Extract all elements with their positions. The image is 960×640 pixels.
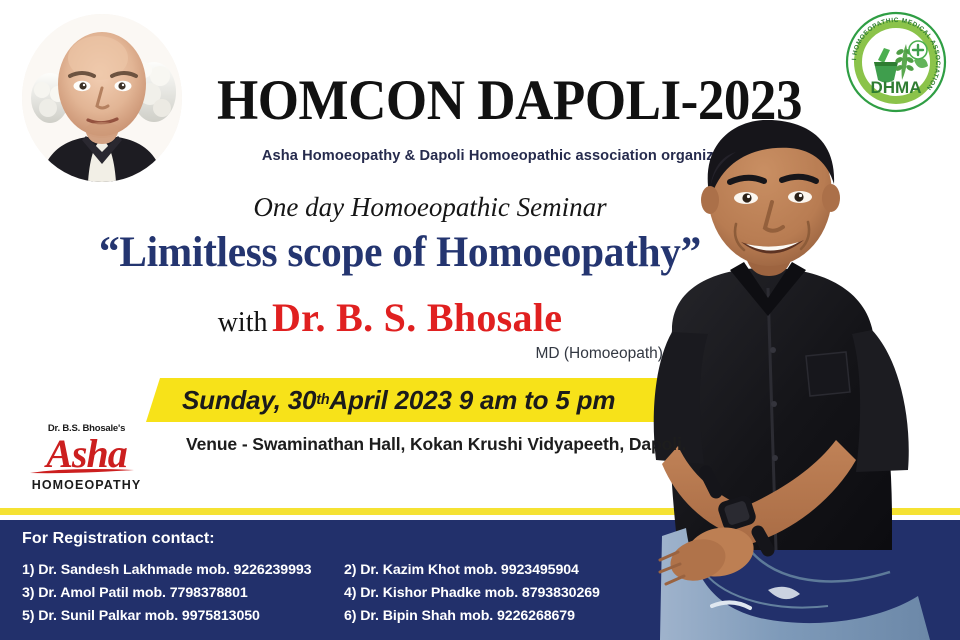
hahnemann-portrait-image [22,14,182,182]
speaker-row: with Dr. B. S. Bhosale [60,298,720,338]
table-row: 1) Dr. Sandesh Lakhmade mob. 9226239993 … [22,558,682,581]
speaker-name: Dr. B. S. Bhosale [272,295,562,340]
list-item[interactable]: 2) Dr. Kazim Khot mob. 9923495904 [344,562,674,578]
registration-contacts-list: 1) Dr. Sandesh Lakhmade mob. 9226239993 … [22,558,682,627]
table-row: 5) Dr. Sunil Palkar mob. 9975813050 6) D… [22,604,682,627]
yellow-divider-rule [0,508,960,515]
seminar-poster: DAPOLI HOMOEOPATHIC MEDICAL ASSOCIATION … [0,0,960,640]
date-ordinal: th [316,392,329,408]
list-item[interactable]: 3) Dr. Amol Patil mob. 7798378801 [22,585,344,601]
date-banner-text: Sunday, 30th April 2023 9 am to 5 pm [146,378,760,422]
date-rest: April 2023 9 am to 5 pm [329,385,615,416]
asha-swoosh-icon [28,466,136,475]
dhma-logo: DAPOLI HOMOEOPATHIC MEDICAL ASSOCIATION … [844,10,948,114]
list-item[interactable]: 6) Dr. Bipin Shah mob. 9226268679 [344,608,674,624]
seminar-type-line: One day Homoeopathic Seminar [110,192,750,223]
list-item[interactable]: 1) Dr. Sandesh Lakhmade mob. 9226239993 [22,562,344,578]
asha-logo-subtitle: HOMOEOPATHY [14,478,159,492]
venue-line: Venue - Swaminathan Hall, Kokan Krushi V… [146,434,786,455]
organizers-line: Asha Homoeopathy & Dapoli Homoeopathic a… [196,148,796,164]
asha-homoeopathy-logo: Dr. B.S. Bhosale's Asha HOMOEOPATHY [14,424,159,504]
date-day: Sunday, 30 [182,385,316,416]
list-item[interactable]: 4) Dr. Kishor Phadke mob. 8793830269 [344,585,674,601]
list-item[interactable]: 5) Dr. Sunil Palkar mob. 9975813050 [22,608,344,624]
seminar-topic: “Limitless scope of Homoeopathy” [64,228,736,277]
page-title: HOMCON DAPOLI-2023 [217,72,775,129]
dhma-acronym: DHMA [871,78,922,97]
with-label: with [218,307,268,338]
table-row: 3) Dr. Amol Patil mob. 7798378801 4) Dr.… [22,581,682,604]
speaker-degree: MD (Homoeopath) PHD [60,345,710,363]
registration-heading: For Registration contact: [22,530,215,548]
asha-logo-name: Asha [14,435,159,473]
